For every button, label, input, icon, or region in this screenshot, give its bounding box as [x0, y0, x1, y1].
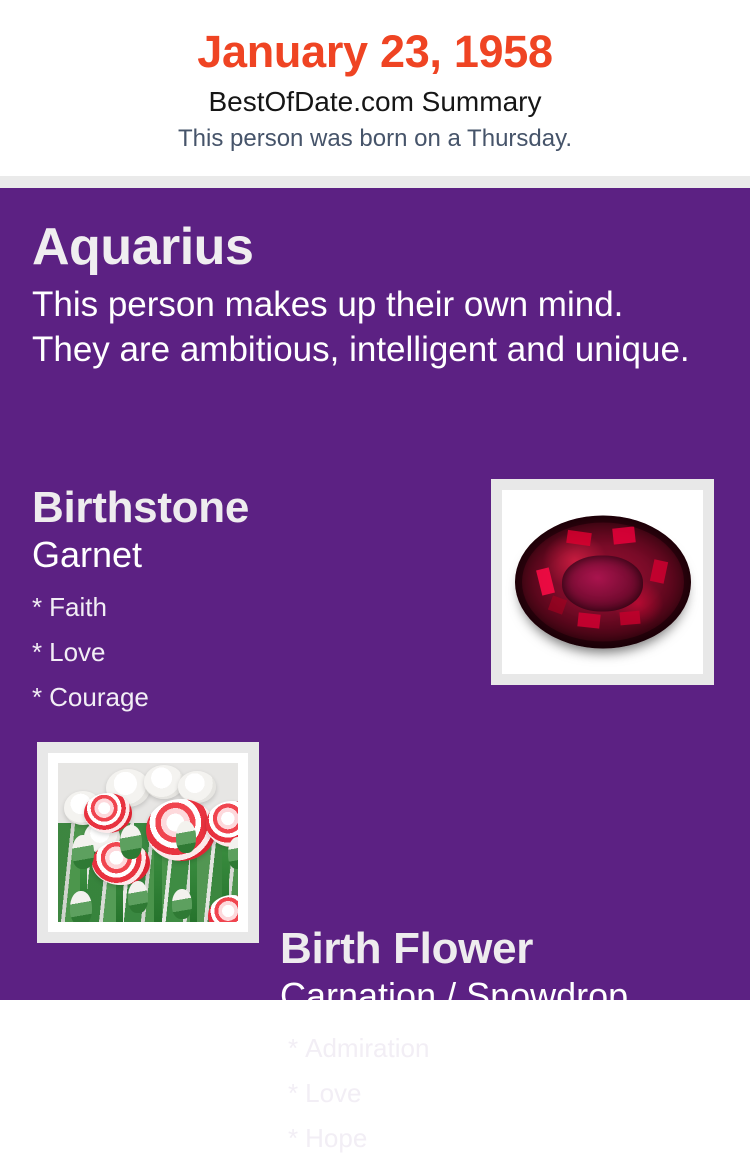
list-item: *Hope	[280, 1116, 720, 1161]
birthstone-section: Birthstone Garnet *Faith *Love *Courage	[32, 483, 452, 720]
flower-bud	[176, 821, 196, 853]
bullet-star: *	[288, 1123, 298, 1153]
flower-bud	[228, 837, 238, 869]
flower-bud	[172, 889, 192, 919]
flower-bud	[72, 835, 94, 869]
bullet-star: *	[288, 1033, 298, 1063]
birthstone-image-mat	[502, 490, 703, 674]
zodiac-sign-name: Aquarius	[32, 188, 718, 276]
trait-label: Hope	[305, 1123, 367, 1153]
flower-bud	[70, 891, 92, 922]
trait-label: Love	[305, 1078, 361, 1108]
bullet-star: *	[32, 637, 42, 667]
birth-flower-name: Carnation / Snowdrop	[280, 974, 720, 1018]
birth-flower-heading: Birth Flower	[280, 924, 720, 974]
birthstone-name: Garnet	[32, 533, 452, 577]
birth-flower-section: Birth Flower Carnation / Snowdrop *Admir…	[280, 924, 720, 1161]
list-item: *Love	[32, 630, 452, 675]
trait-label: Courage	[49, 682, 149, 712]
page-title: January 23, 1958	[0, 24, 750, 80]
garnet-gem-icon	[515, 516, 691, 649]
birthstone-trait-list: *Faith *Love *Courage	[32, 585, 452, 720]
list-item: *Courage	[32, 675, 452, 720]
summary-card: January 23, 1958 BestOfDate.com Summary …	[0, 0, 750, 1000]
weekday-tagline: This person was born on a Thursday.	[0, 122, 750, 156]
birthstone-heading: Birthstone	[32, 483, 452, 533]
trait-label: Admiration	[305, 1033, 429, 1063]
flower-bud	[120, 825, 142, 859]
birth-flower-trait-list: *Admiration *Love *Hope	[280, 1026, 720, 1161]
header-divider	[0, 176, 750, 188]
zodiac-description: This person makes up their own mind. The…	[32, 282, 692, 372]
bullet-star: *	[288, 1078, 298, 1108]
list-item: *Faith	[32, 585, 452, 630]
site-subtitle: BestOfDate.com Summary	[0, 82, 750, 122]
birth-flower-image-frame	[37, 742, 259, 943]
garnet-gemstone-image	[512, 500, 693, 664]
birthstone-image-frame	[491, 479, 714, 685]
trait-label: Love	[49, 637, 105, 667]
list-item: *Love	[280, 1071, 720, 1116]
trait-label: Faith	[49, 592, 107, 622]
gem-girdle	[515, 516, 691, 649]
birth-flower-image-mat	[48, 753, 248, 932]
list-item: *Admiration	[280, 1026, 720, 1071]
carnation-bouquet-image	[58, 763, 238, 922]
flower-bud	[128, 881, 148, 913]
bullet-star: *	[32, 682, 42, 712]
card-header: January 23, 1958 BestOfDate.com Summary …	[0, 0, 750, 176]
bullet-star: *	[32, 592, 42, 622]
